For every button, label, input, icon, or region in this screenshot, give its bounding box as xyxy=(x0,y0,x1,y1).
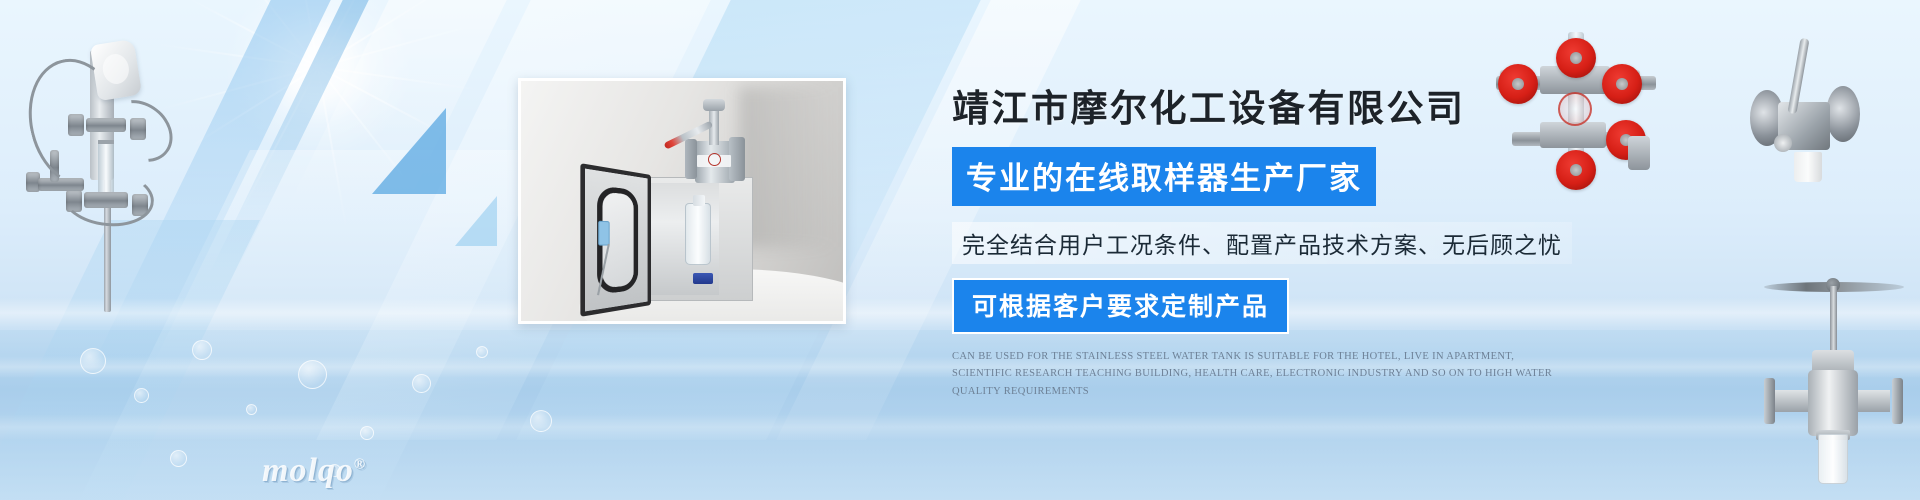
bg-triangle-accent xyxy=(372,108,446,194)
gate-valve-port xyxy=(1774,390,1810,412)
cabinet-door xyxy=(580,163,651,317)
valve-flange xyxy=(729,137,745,181)
gate-valve-flange xyxy=(1764,378,1775,424)
product-image-pole-sampler xyxy=(8,22,208,312)
gate-valve-sight-glass xyxy=(1818,434,1848,484)
sampling-valve-assembly xyxy=(667,99,763,185)
product-photo-cabinet-sampler xyxy=(518,78,846,324)
lever-valve-dial xyxy=(1774,134,1792,152)
english-description: CAN BE USED FOR THE STAINLESS STEEL WATE… xyxy=(952,348,1554,400)
subline-text: 完全结合用户工况条件、配置产品技术方案、无后顾之忧 xyxy=(952,222,1572,264)
red-handwheel-icon xyxy=(1556,38,1596,78)
product-image-lever-valve xyxy=(1716,24,1896,204)
cabinet-key xyxy=(598,221,609,246)
gate-valve-flange xyxy=(1892,378,1903,424)
red-handwheel-icon xyxy=(1498,64,1538,104)
blue-bottle-cap xyxy=(693,273,713,284)
red-handwheel-icon xyxy=(1602,64,1642,104)
tagline-badge: 专业的在线取样器生产厂家 xyxy=(952,147,1376,206)
red-handwheel-icon xyxy=(1556,150,1596,190)
valve-cap xyxy=(703,99,725,111)
lever-valve-flange xyxy=(1826,86,1860,142)
valve-flange xyxy=(685,139,697,179)
promo-banner: 靖江市摩尔化工设备有限公司 专业的在线取样器生产厂家 完全结合用户工况条件、配置… xyxy=(0,0,1920,500)
cross-valve-collector xyxy=(1628,136,1650,170)
gate-valve-body xyxy=(1808,370,1858,436)
registered-mark-icon: ® xyxy=(354,457,366,473)
certification-seal-icon xyxy=(708,153,721,166)
gate-valve-port xyxy=(1854,390,1890,412)
sample-bottle xyxy=(685,203,711,265)
product-image-cross-valve xyxy=(1482,32,1672,172)
bg-triangle-accent xyxy=(455,196,497,246)
certification-seal-icon xyxy=(1558,92,1592,126)
watermark-text: molqo xyxy=(262,452,354,489)
lever-valve-sample-cup xyxy=(1794,152,1822,182)
custom-product-badge: 可根据客户要求定制产品 xyxy=(952,278,1289,334)
product-image-gate-valve xyxy=(1756,258,1920,488)
watermark-logo: molqo® xyxy=(262,452,366,490)
